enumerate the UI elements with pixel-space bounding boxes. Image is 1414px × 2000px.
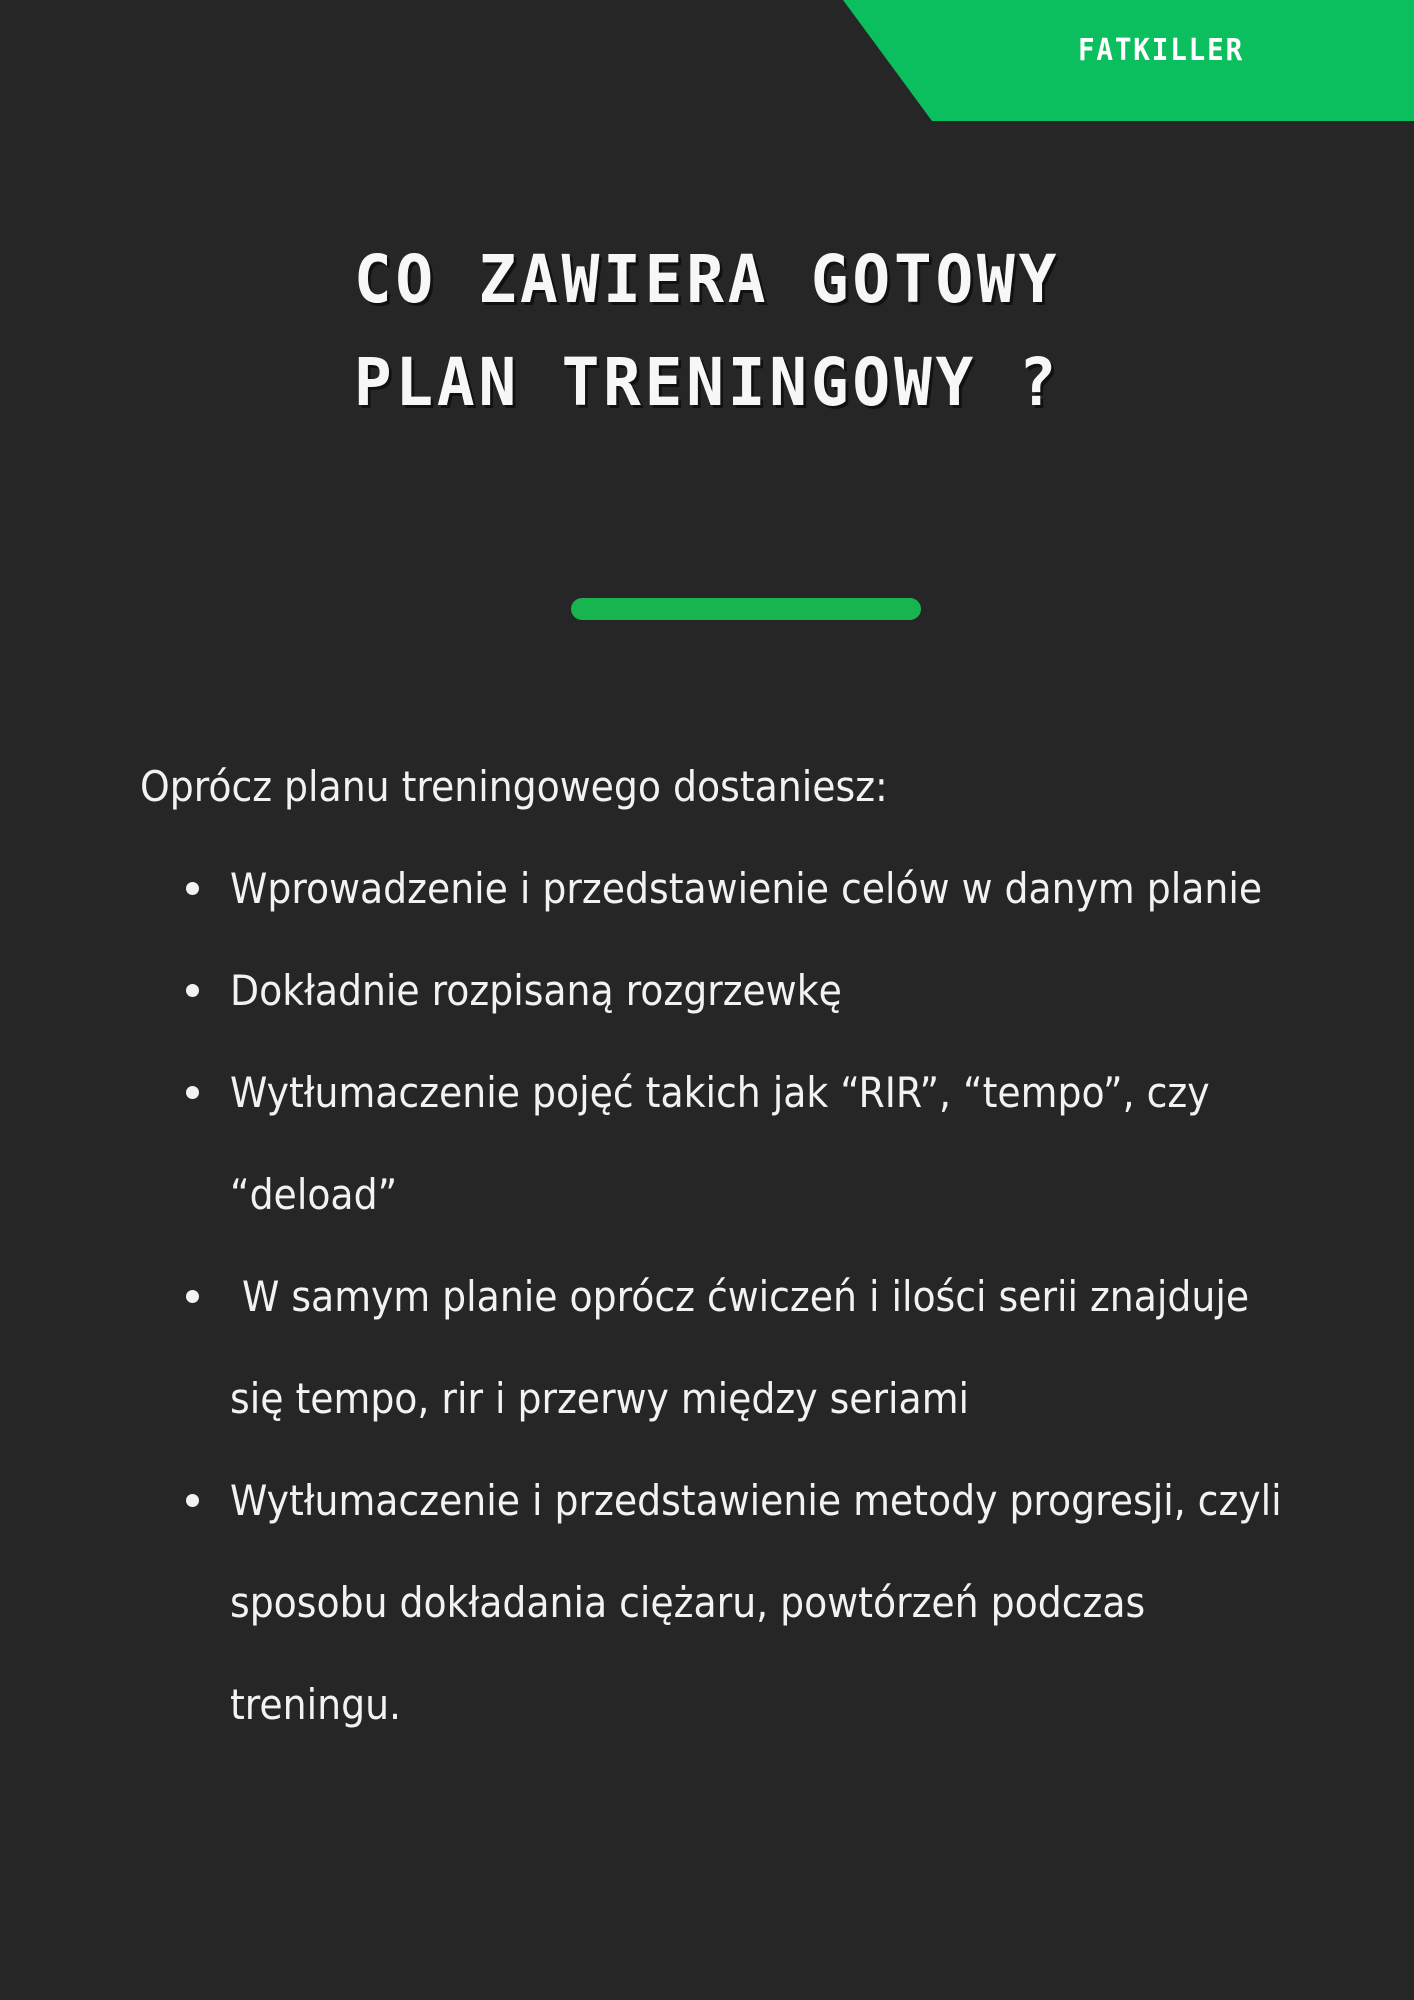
list-item-label: Wprowadzenie i przedstawienie celów w da…: [230, 838, 1290, 940]
section-divider: [571, 598, 921, 620]
page-title: CO ZAWIERA GOTOWY PLAN TRENINGOWY ?: [0, 228, 1414, 434]
bullet-dot-icon: [186, 1494, 199, 1507]
list-item-label: W samym planie oprócz ćwiczeń i ilości s…: [230, 1246, 1290, 1450]
bullet-dot-icon: [186, 1086, 199, 1099]
list-item-label: Dokładnie rozpisaną rozgrzewkę: [230, 940, 1290, 1042]
page-title-line-2: PLAN TRENINGOWY ?: [35, 331, 1378, 434]
poster-page: FATKILLER CO ZAWIERA GOTOWY PLAN TRENING…: [0, 0, 1414, 2000]
bullet-dot-icon: [186, 882, 199, 895]
intro-text: Oprócz planu treningowego dostaniesz:: [140, 736, 1414, 838]
list-item: W samym planie oprócz ćwiczeń i ilości s…: [186, 1246, 1290, 1450]
list-item: Dokładnie rozpisaną rozgrzewkę: [186, 940, 1290, 1042]
list-item: Wytłumaczenie pojęć takich jak “RIR”, “t…: [186, 1042, 1290, 1246]
bullet-dot-icon: [186, 1290, 199, 1303]
list-item: Wytłumaczenie i przedstawienie metody pr…: [186, 1450, 1290, 1756]
content-area: Oprócz planu treningowego dostaniesz: Wp…: [0, 736, 1414, 1756]
list-item-label: Wytłumaczenie i przedstawienie metody pr…: [230, 1450, 1290, 1756]
list-item: Wprowadzenie i przedstawienie celów w da…: [186, 838, 1290, 940]
page-title-line-1: CO ZAWIERA GOTOWY: [35, 228, 1378, 331]
benefits-list: Wprowadzenie i przedstawienie celów w da…: [0, 838, 1414, 1756]
bullet-dot-icon: [186, 984, 199, 997]
list-item-label: Wytłumaczenie pojęć takich jak “RIR”, “t…: [230, 1042, 1290, 1246]
brand-logo-text: FATKILLER: [1051, 34, 1272, 68]
